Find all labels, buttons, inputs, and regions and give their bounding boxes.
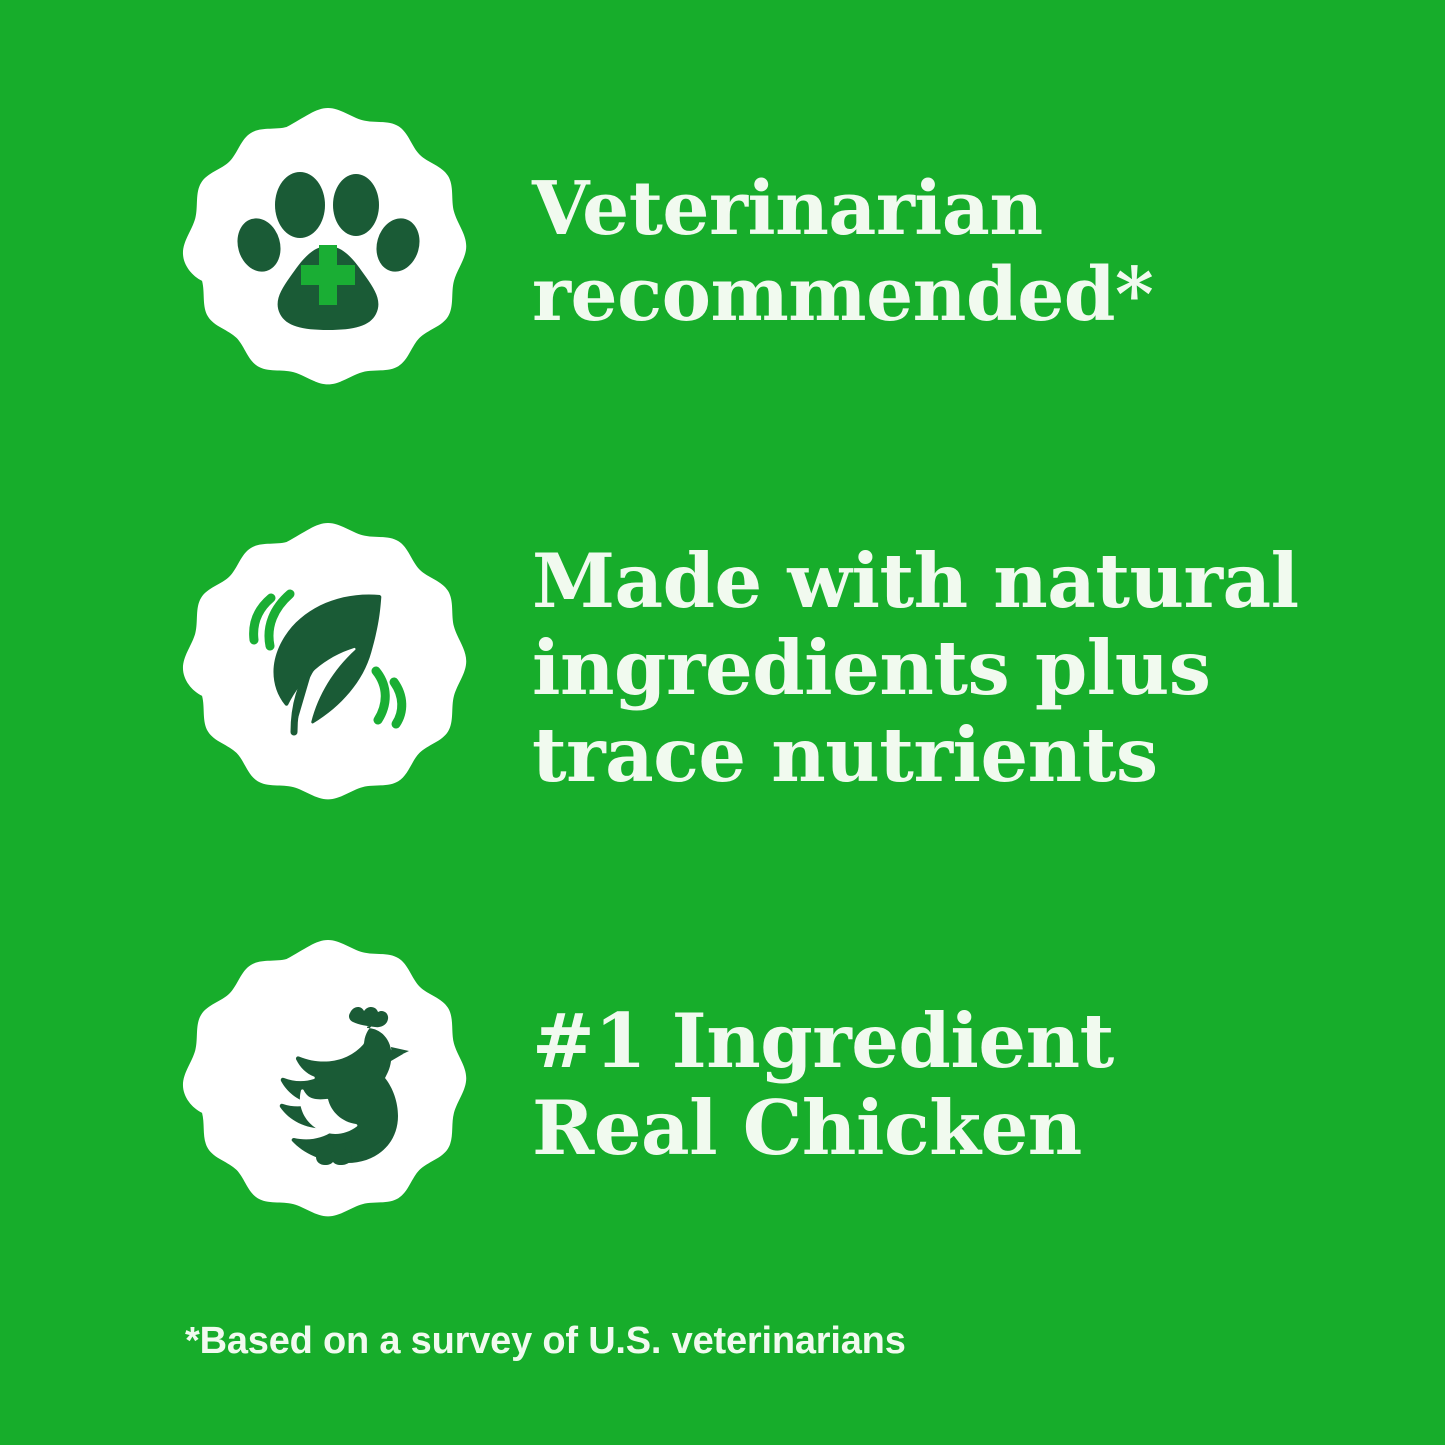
- badge-real-chicken: [180, 935, 476, 1235]
- feature-label-real-chicken: #1 Ingredient Real Chicken: [532, 998, 1114, 1172]
- feature-row-veterinarian: Veterinarian recommended*: [180, 103, 1360, 403]
- badge-natural-ingredients: [180, 518, 476, 818]
- paw-with-medical-cross-icon: [228, 153, 428, 353]
- feature-panel: Veterinarian recommended*: [0, 0, 1445, 1445]
- feature-label-natural-ingredients: Made with natural ingredients plus trace…: [532, 538, 1299, 799]
- feature-label-veterinarian: Veterinarian recommended*: [532, 167, 1153, 339]
- feature-row-real-chicken: #1 Ingredient Real Chicken: [180, 935, 1360, 1235]
- footnote-disclaimer: *Based on a survey of U.S. veterinarians: [185, 1320, 906, 1363]
- badge-veterinarian: [180, 103, 476, 403]
- chicken-hen-icon: [228, 985, 428, 1185]
- leaf-with-motion-lines-icon: [228, 568, 428, 768]
- feature-row-natural-ingredients: Made with natural ingredients plus trace…: [180, 518, 1360, 818]
